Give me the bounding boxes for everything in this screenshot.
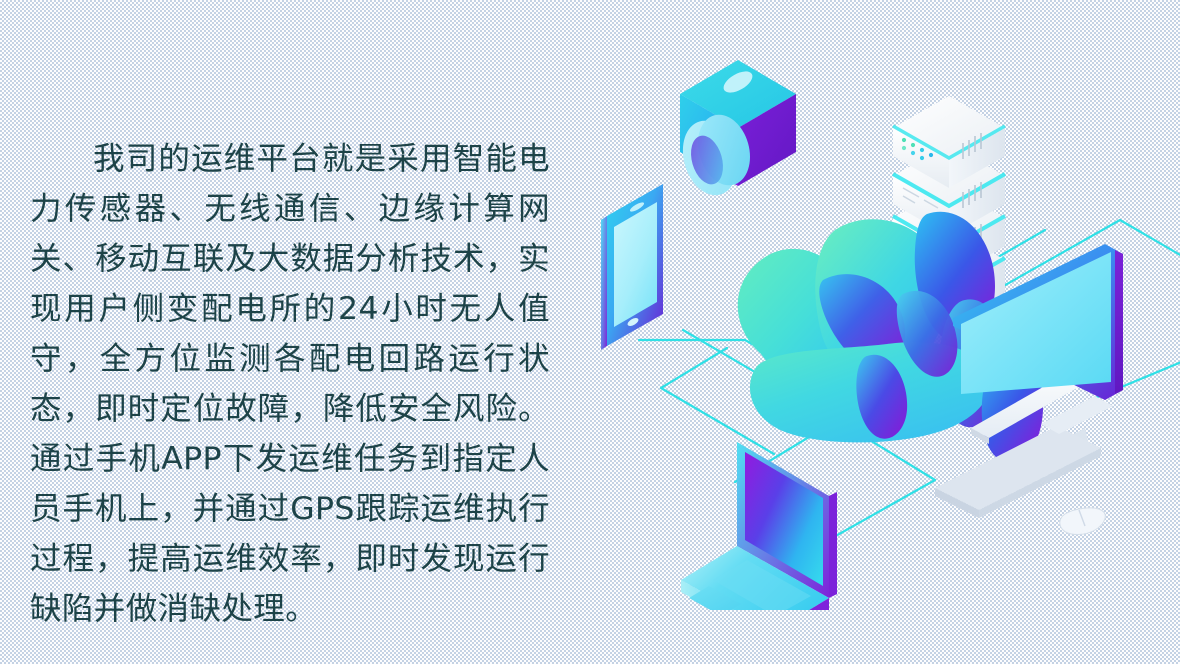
monitor-right-side: [1115, 250, 1123, 394]
laptop: [681, 442, 837, 610]
text-panel: 我司的运维平台就是采用智能电力传感器、无线通信、边缘计算网关、移动互联及大数据分…: [30, 134, 550, 634]
laptop-lid-shadow-edge: [829, 492, 837, 598]
tablet-side-edge: [601, 216, 607, 350]
slide-canvas: 我司的运维平台就是采用智能电力传感器、无线通信、边缘计算网关、移动互联及大数据分…: [0, 0, 1180, 664]
tablet: [601, 184, 663, 350]
mouse: [1060, 508, 1105, 535]
isometric-network-illustration: [575, 30, 1180, 610]
camera: [675, 60, 796, 202]
body-paragraph: 我司的运维平台就是采用智能电力传感器、无线通信、边缘计算网关、移动互联及大数据分…: [30, 134, 550, 634]
